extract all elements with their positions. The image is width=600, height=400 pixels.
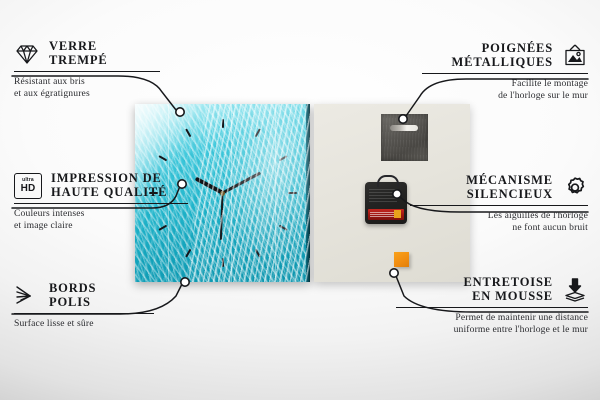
feature-title: ENTRETOISE EN MOUSSE — [463, 276, 553, 303]
feature-header: ENTRETOISE EN MOUSSE — [392, 276, 588, 303]
feature-entretoise-en-mousse[interactable]: ENTRETOISE EN MOUSSE Permet de maintenir… — [392, 276, 588, 335]
feature-mecanisme-silencieux[interactable]: MÉCANISME SILENCIEUX Les aiguilles de l'… — [406, 174, 588, 233]
feature-bords-polis[interactable]: BORDS POLIS Surface lisse et sûre — [14, 282, 158, 330]
feature-verre-trempe[interactable]: VERRE TREMPÉ Résistant aux bris et aux é… — [14, 40, 164, 99]
feature-impression-haute-qualite[interactable]: ultra HD IMPRESSION DE HAUTE QUALITÉ Cou… — [14, 172, 192, 231]
feature-header: VERRE TREMPÉ — [14, 40, 164, 67]
feature-header: POIGNÉES MÉTALLIQUES — [418, 42, 588, 69]
feature-rule — [396, 307, 588, 308]
feature-title: VERRE TREMPÉ — [49, 40, 108, 67]
feature-rule — [410, 205, 588, 206]
feature-description: Facilite le montage de l'horloge sur le … — [418, 78, 588, 101]
feature-header: BORDS POLIS — [14, 282, 158, 309]
connector-dot-mecanisme — [393, 190, 401, 198]
feature-title: MÉCANISME SILENCIEUX — [466, 174, 553, 201]
infographic-canvas: VERRE TREMPÉ Résistant aux bris et aux é… — [0, 0, 600, 400]
feature-header: ultra HD IMPRESSION DE HAUTE QUALITÉ — [14, 172, 192, 199]
connector-dot-poignees — [399, 115, 407, 123]
wall-frame-hanger-icon — [562, 43, 588, 69]
ultra-label: ultra — [22, 178, 34, 183]
feature-description: Surface lisse et sûre — [14, 318, 158, 329]
feature-description: Les aiguilles de l'horloge ne font aucun… — [406, 210, 588, 233]
polished-edges-icon — [14, 283, 40, 309]
feature-description: Couleurs intenses et image claire — [14, 208, 192, 231]
arrow-down-layers-icon — [562, 277, 588, 303]
feature-rule — [14, 203, 188, 204]
connector-dot-bords-polis — [181, 278, 189, 286]
hd-label: HD — [21, 184, 36, 194]
diamond-icon — [14, 41, 40, 67]
connector-dot-verre-trempe — [176, 108, 184, 116]
feature-header: MÉCANISME SILENCIEUX — [406, 174, 588, 201]
feature-description: Permet de maintenir une distance uniform… — [392, 312, 588, 335]
feature-title: IMPRESSION DE HAUTE QUALITÉ — [51, 172, 167, 199]
feature-rule — [14, 313, 154, 314]
feature-rule — [14, 71, 160, 72]
feature-rule — [422, 73, 588, 74]
feature-title: BORDS POLIS — [49, 282, 96, 309]
feature-description: Résistant aux bris et aux égratignures — [14, 76, 164, 99]
feature-poignees-metalliques[interactable]: POIGNÉES MÉTALLIQUES Facilite le montage… — [418, 42, 588, 101]
ultra-hd-badge-icon: ultra HD — [14, 173, 42, 199]
feature-title: POIGNÉES MÉTALLIQUES — [451, 42, 553, 69]
gear-icon — [562, 175, 588, 201]
